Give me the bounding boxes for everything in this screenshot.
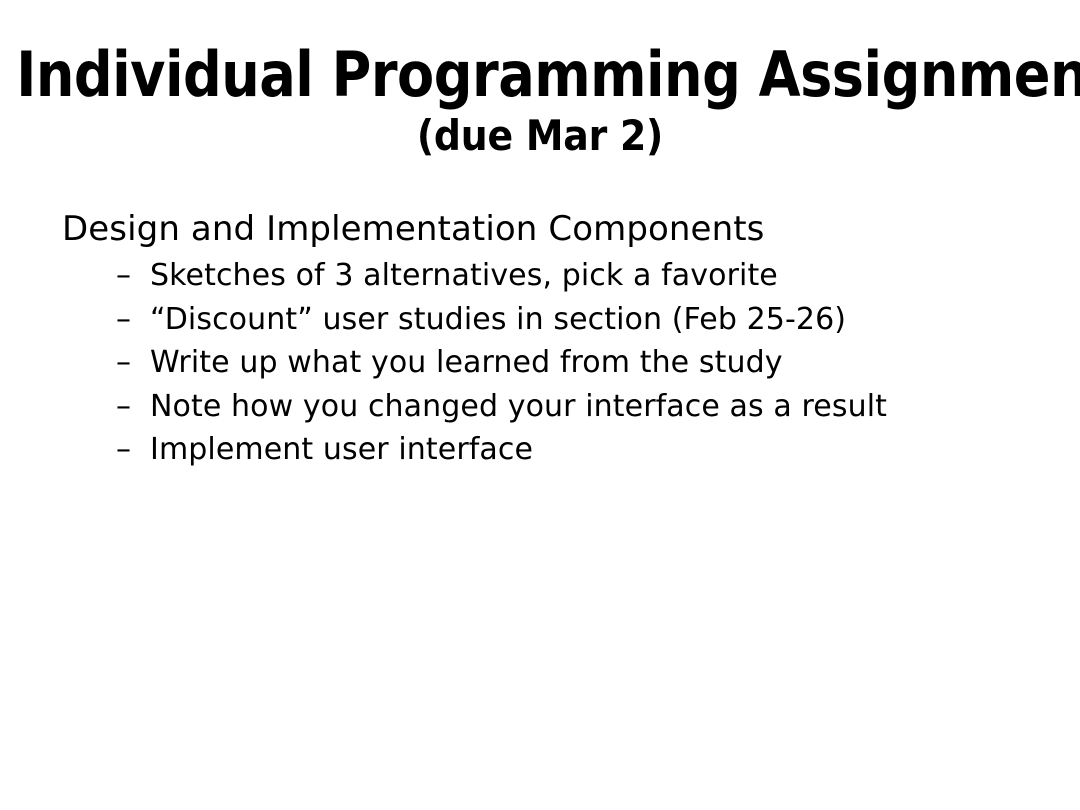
list-item-label: Note how you changed your interface as a…	[150, 385, 887, 429]
list-item: – Write up what you learned from the stu…	[62, 341, 1022, 385]
slide-title-block: Individual Programming Assignment (due M…	[0, 42, 1080, 160]
list-item: – Sketches of 3 alternatives, pick a fav…	[62, 254, 1022, 298]
dash-marker-icon: –	[116, 341, 150, 385]
dash-marker-icon: –	[116, 385, 150, 429]
list-item-label: Write up what you learned from the study	[150, 341, 783, 385]
list-item: – Implement user interface	[62, 428, 1022, 472]
list-item: – “Discount” user studies in section (Fe…	[62, 298, 1022, 342]
body-heading: Design and Implementation Components	[62, 208, 1022, 250]
list-item-label: Sketches of 3 alternatives, pick a favor…	[150, 254, 778, 298]
dash-marker-icon: –	[116, 428, 150, 472]
presentation-slide: Individual Programming Assignment (due M…	[0, 0, 1080, 810]
list-item-label: Implement user interface	[150, 428, 533, 472]
list-item-label: “Discount” user studies in section (Feb …	[150, 298, 846, 342]
slide-subtitle: (due Mar 2)	[0, 112, 1080, 160]
dash-marker-icon: –	[116, 254, 150, 298]
slide-title: Individual Programming Assignment	[16, 42, 1064, 108]
slide-body: Design and Implementation Components – S…	[62, 208, 1022, 472]
bullet-list: – Sketches of 3 alternatives, pick a fav…	[62, 254, 1022, 472]
list-item: – Note how you changed your interface as…	[62, 385, 1022, 429]
dash-marker-icon: –	[116, 298, 150, 342]
